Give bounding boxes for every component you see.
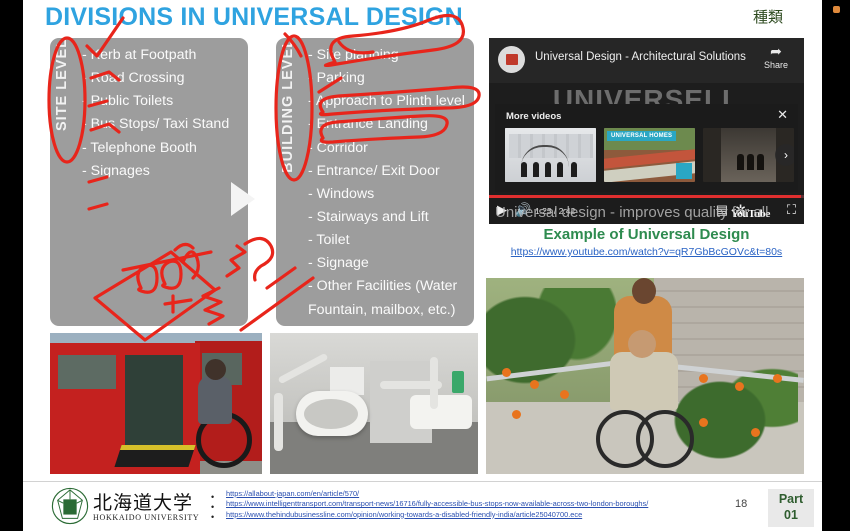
source-bullets: • • • bbox=[211, 492, 214, 522]
part-label: Part bbox=[779, 492, 803, 508]
footer-divider bbox=[23, 481, 822, 482]
site-level-vertical-label: SITE LEVEL bbox=[48, 38, 76, 218]
list-item: - Windows bbox=[308, 183, 466, 206]
share-button[interactable]: ➦ Share bbox=[756, 44, 796, 70]
next-thumbnails-icon[interactable]: › bbox=[775, 144, 794, 166]
bullet-glyph: • bbox=[211, 502, 214, 512]
list-item: - Approach to Plinth level bbox=[308, 90, 466, 113]
bullet-glyph: • bbox=[211, 512, 214, 522]
share-label: Share bbox=[756, 60, 796, 70]
panel-building-level: BUILDING LEVEL - Site planning - Parking… bbox=[276, 38, 474, 326]
photo-wheelchair-ramp bbox=[486, 278, 804, 474]
site-level-label-text: SITE LEVEL bbox=[54, 38, 70, 133]
list-item: - Corridor bbox=[308, 137, 466, 160]
part-number: 01 bbox=[784, 508, 798, 524]
building-level-list: - Site planning - Parking - Approach to … bbox=[308, 44, 466, 322]
photo-accessible-bus bbox=[50, 333, 262, 474]
list-item: - Kerb at Footpath bbox=[82, 44, 240, 67]
list-item: - Bus Stops/ Taxi Stand bbox=[82, 113, 240, 136]
source-link-list: https://allabout-japan.com/en/article/57… bbox=[226, 489, 648, 520]
list-item: - Parking bbox=[308, 67, 466, 90]
presentation-slide: DIVISIONS IN UNIVERSAL DESIGN 種類 SITE LE… bbox=[23, 0, 822, 531]
list-item: - Entrance Landing bbox=[308, 113, 466, 136]
video-thumbnail[interactable]: UNIVERSAL HOMES bbox=[604, 128, 695, 182]
university-name-jp: 北海道大学 bbox=[93, 488, 193, 515]
hokkaido-university-logo bbox=[51, 487, 89, 525]
video-control-bar: ▶ 🔊 1:23 / 2:42 ▤ ✲ ⛶ YouTube Universal … bbox=[489, 198, 804, 224]
list-item: - Signages bbox=[82, 160, 240, 183]
video-thumbnail[interactable]: › bbox=[703, 128, 794, 182]
source-link[interactable]: https://allabout-japan.com/en/article/57… bbox=[226, 489, 648, 499]
panel-site-level: SITE LEVEL - Kerb at Footpath - Road Cro… bbox=[50, 38, 248, 326]
list-item: - Toilet bbox=[308, 229, 466, 252]
building-level-vertical-label: BUILDING LEVEL bbox=[274, 38, 302, 218]
site-level-list: - Kerb at Footpath - Road Crossing - Pub… bbox=[82, 44, 240, 183]
list-item: - Stairways and Lift bbox=[308, 206, 466, 229]
building-level-label-text: BUILDING LEVEL bbox=[280, 38, 296, 175]
video-overlay-caption: Universal design - improves quality for … bbox=[495, 204, 798, 221]
recording-indicator-dot bbox=[833, 6, 840, 13]
source-link[interactable]: https://www.thehindubusinessline.com/opi… bbox=[226, 510, 648, 520]
share-icon: ➦ bbox=[756, 44, 796, 59]
list-item: - Road Crossing bbox=[82, 67, 240, 90]
more-videos-panel: More videos ✕ UNIVERSAL HOMES bbox=[495, 104, 798, 192]
video-title[interactable]: Universal Design - Architectural Solutio… bbox=[535, 51, 746, 63]
bullet-glyph: • bbox=[211, 492, 214, 502]
example-caption-title: Example of Universal Design bbox=[489, 226, 804, 243]
close-icon[interactable]: ✕ bbox=[777, 108, 788, 121]
list-item: - Entrance/ Exit Door bbox=[308, 160, 466, 183]
page-title: DIVISIONS IN UNIVERSAL DESIGN bbox=[45, 3, 463, 32]
screen: DIVISIONS IN UNIVERSAL DESIGN 種類 SITE LE… bbox=[0, 0, 850, 531]
youtube-video-embed[interactable]: Universal Design - Architectural Solutio… bbox=[489, 38, 804, 224]
video-thumbnail-list: UNIVERSAL HOMES › bbox=[505, 128, 794, 182]
page-number: 18 bbox=[735, 498, 747, 510]
list-item: - Telephone Booth bbox=[82, 137, 240, 160]
letterbox-left bbox=[0, 0, 23, 531]
video-thumbnail[interactable] bbox=[505, 128, 596, 182]
list-item: - Public Toilets bbox=[82, 90, 240, 113]
list-item: - Other Facilities (Water Fountain, mail… bbox=[308, 275, 466, 321]
list-item: - Site planning bbox=[308, 44, 466, 67]
part-badge: Part 01 bbox=[768, 489, 814, 527]
source-link[interactable]: https://www.intelligenttransport.com/tra… bbox=[226, 499, 648, 509]
thumbnail-badge: UNIVERSAL HOMES bbox=[607, 131, 676, 141]
play-triangle-icon[interactable] bbox=[231, 182, 255, 216]
list-item: - Signage bbox=[308, 252, 466, 275]
university-name-en: HOKKAIDO UNIVERSITY bbox=[93, 513, 199, 522]
channel-avatar[interactable] bbox=[498, 46, 525, 73]
photo-accessible-toilet bbox=[270, 333, 478, 474]
japanese-section-label: 種類 bbox=[753, 6, 783, 27]
example-video-link[interactable]: https://www.youtube.com/watch?v=qR7GbBcG… bbox=[489, 246, 804, 258]
more-videos-label: More videos bbox=[506, 111, 561, 122]
letterbox-right bbox=[822, 0, 850, 531]
